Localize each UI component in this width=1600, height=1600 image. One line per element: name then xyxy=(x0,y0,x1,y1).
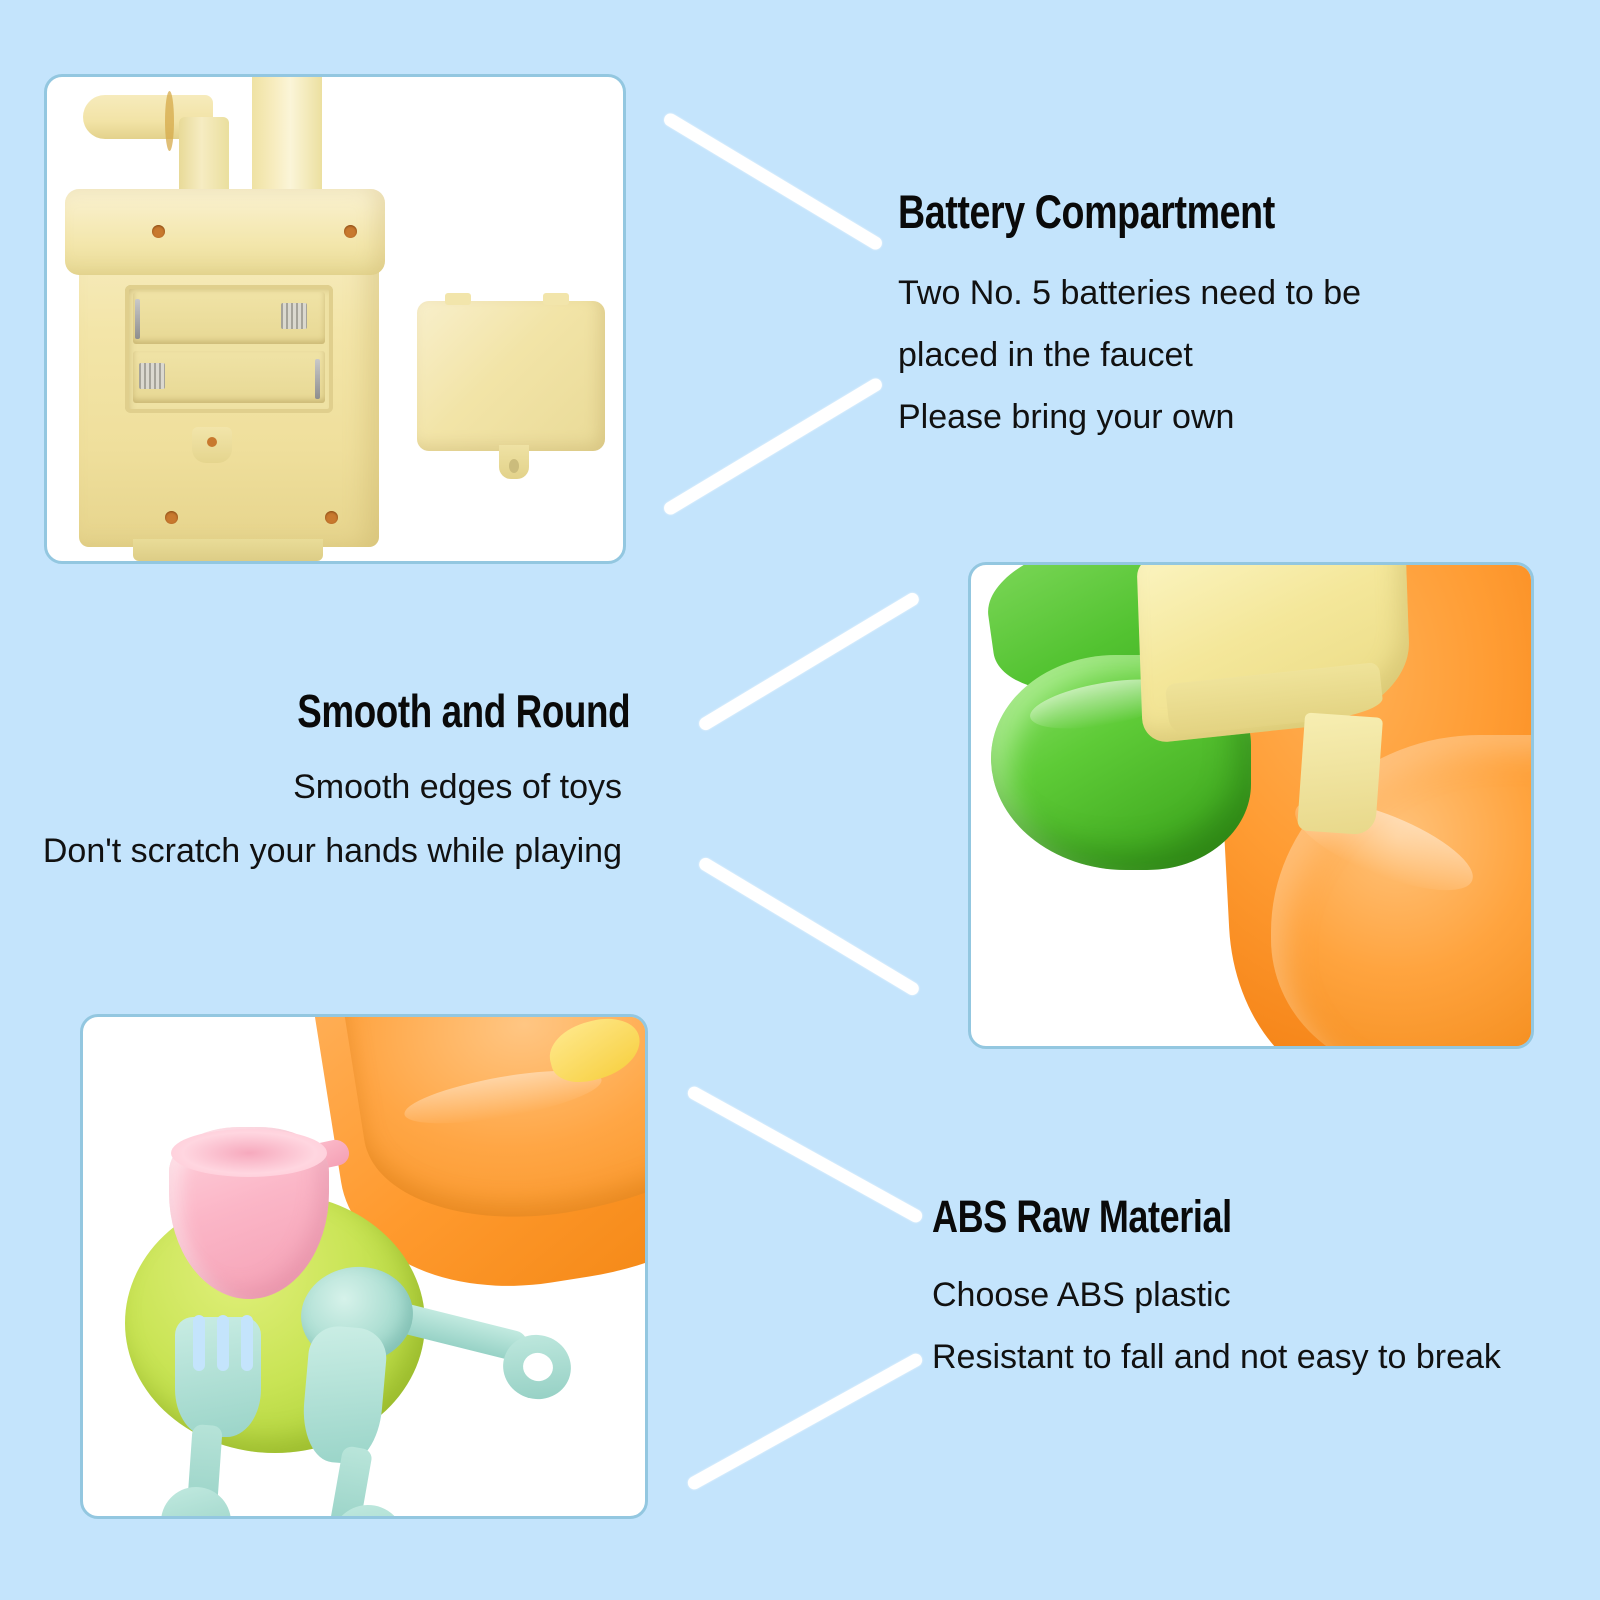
feature-title-battery: Battery Compartment xyxy=(898,186,1275,238)
feature-title-abs: ABS Raw Material xyxy=(932,1192,1232,1242)
chevron-bar-upper xyxy=(697,591,921,733)
pink-cup-rim xyxy=(171,1129,327,1177)
screw-hole-top-right xyxy=(344,225,357,238)
feature-line-abs-1: Choose ABS plastic xyxy=(932,1278,1231,1312)
chevron-bar-upper xyxy=(662,111,885,252)
screw-hole-bottom-left xyxy=(165,511,178,524)
feature-text-smooth: Smooth and Round Smooth edges of toys Do… xyxy=(0,686,630,737)
feature-line-smooth-2: Don't scratch your hands while playing xyxy=(43,834,622,868)
abs-material-photo xyxy=(80,1014,648,1519)
feature-line-battery-2: placed in the faucet xyxy=(898,338,1193,372)
feature-text-abs: ABS Raw Material Choose ABS plastic Resi… xyxy=(932,1192,1307,1242)
battery-cover-nub-left xyxy=(445,293,471,305)
chevron-bar-lower xyxy=(662,376,885,517)
mint-spatula-head xyxy=(299,1324,389,1466)
battery-well xyxy=(125,285,333,413)
mint-fork-tine-gap-3 xyxy=(241,1315,253,1371)
feature-line-battery-3: Please bring your own xyxy=(898,400,1234,434)
mint-fork-tine-gap-1 xyxy=(193,1315,205,1371)
feature-line-battery-1: Two No. 5 batteries need to be xyxy=(898,276,1361,310)
smooth-edges-photo xyxy=(968,562,1534,1049)
mint-fork-grip xyxy=(159,1485,234,1516)
battery-spring-2 xyxy=(139,363,165,389)
infographic-canvas: Battery Compartment Two No. 5 batteries … xyxy=(0,0,1600,1600)
chevron-bar-lower xyxy=(697,856,921,998)
feature-title-smooth: Smooth and Round xyxy=(297,686,630,737)
mint-fork-tine-gap-2 xyxy=(217,1315,229,1371)
battery-cover xyxy=(417,301,605,451)
screw-hole-bottom-right xyxy=(325,511,338,524)
feature-line-smooth-1: Smooth edges of toys xyxy=(293,770,622,804)
battery-compartment-photo xyxy=(44,74,626,564)
chevron-bar-lower xyxy=(686,1351,925,1491)
faucet-spout-ring xyxy=(165,91,174,151)
battery-contact-1 xyxy=(135,299,140,339)
screw-hole-top-left xyxy=(152,225,165,238)
battery-housing-base xyxy=(133,539,323,561)
battery-latch-screw xyxy=(207,437,217,447)
battery-cover-nub-right xyxy=(543,293,569,305)
chevron-bar-upper xyxy=(686,1084,925,1224)
battery-photo-inner xyxy=(47,77,623,561)
battery-spring-1 xyxy=(281,303,307,329)
smooth-photo-inner xyxy=(971,565,1531,1046)
battery-contact-2 xyxy=(315,359,320,399)
abs-photo-inner xyxy=(83,1017,645,1516)
battery-housing-cap xyxy=(65,189,385,275)
feature-line-abs-2: Resistant to fall and not easy to break xyxy=(932,1340,1501,1374)
battery-cover-tab-hole xyxy=(509,459,519,473)
feature-text-battery: Battery Compartment Two No. 5 batteries … xyxy=(898,186,1369,238)
yellow-part-flap xyxy=(1297,712,1383,835)
